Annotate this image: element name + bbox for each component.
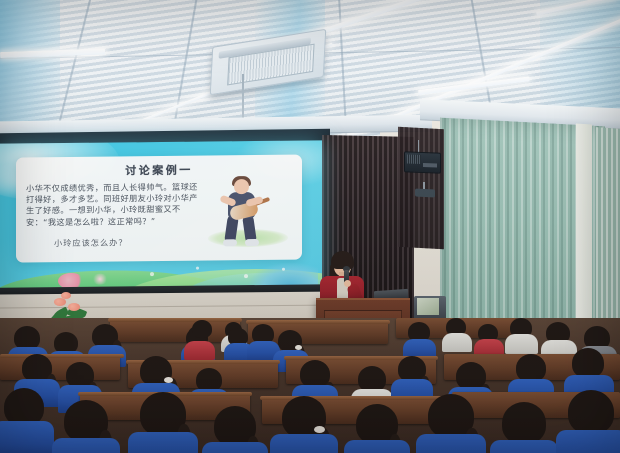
student-uniform	[344, 440, 410, 453]
slide-question-text: 小玲应该怎么办？	[54, 236, 128, 249]
auditorium-bench	[0, 356, 120, 380]
plant-bloom	[61, 292, 71, 299]
slide-deco-dot	[196, 267, 199, 270]
boy-playing-guitar-illustration	[204, 171, 292, 258]
student-uniform	[556, 430, 620, 453]
auditorium-photo: 讨论案例一 小华不仅成绩优秀，而且人长得帅气。篮球还打得好，多才多艺。同班好朋友…	[0, 0, 620, 453]
student-uniform	[202, 442, 268, 453]
wall-speaker	[404, 151, 441, 173]
monitor-screen	[417, 298, 439, 315]
projection-screen: 讨论案例一 小华不仅成绩优秀，而且人长得帅气。篮球还打得好，多才多艺。同班好朋友…	[0, 140, 322, 291]
curtain-gap-window	[576, 124, 592, 341]
student-uniform	[270, 434, 338, 453]
bench-top-rail	[108, 318, 242, 322]
illustration-shoe-left	[223, 239, 237, 246]
student-hair	[572, 348, 604, 378]
student-hair	[568, 390, 614, 434]
bench-top-rail	[260, 396, 444, 400]
speaker-label	[423, 163, 437, 167]
plant-bloom	[68, 303, 80, 311]
seated-students-in-blue-uniforms	[0, 318, 620, 453]
slide-content-card: 讨论案例一 小华不仅成绩优秀，而且人长得帅气。篮球还打得好，多才多艺。同班好朋友…	[16, 155, 302, 263]
bench-top-rail	[246, 320, 390, 324]
slide-body-text: 小华不仅成绩优秀，而且人长得帅气。篮球还打得好，多才多艺。同班好朋友小玲对小华产…	[26, 182, 198, 229]
slide-deco-dot	[150, 272, 154, 276]
student-uniform	[490, 440, 558, 453]
illustration-head	[234, 179, 249, 194]
student-uniform	[505, 334, 538, 354]
hair-scrunchie	[314, 426, 325, 433]
student-uniform	[52, 438, 120, 453]
student-uniform-red	[184, 341, 215, 360]
projector-mount	[415, 188, 435, 197]
student-uniform	[442, 333, 472, 352]
student-uniform	[416, 434, 486, 453]
student-uniform	[0, 421, 54, 453]
student-hair	[516, 354, 546, 382]
student-hair	[502, 402, 546, 444]
teacher-hair	[331, 251, 354, 269]
slide-deco-dot	[282, 268, 285, 271]
speaker-grill	[407, 154, 421, 163]
auditorium-bench	[110, 320, 240, 342]
teacher-hand	[344, 280, 351, 287]
slide-deco-dot	[244, 274, 248, 278]
student-uniform	[128, 432, 198, 453]
bench-top-rail	[0, 354, 124, 358]
illustration-shoe-right	[245, 239, 259, 246]
student-hair	[192, 320, 212, 338]
plant-bloom	[54, 298, 66, 306]
